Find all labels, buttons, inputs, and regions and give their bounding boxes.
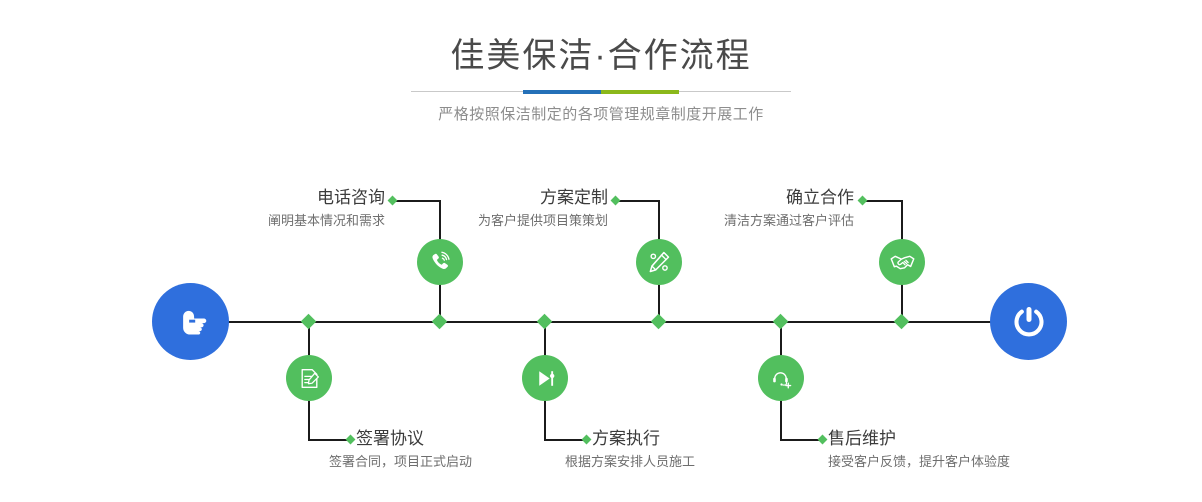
timeline-elbow-h-4 <box>544 439 586 441</box>
step-node-6[interactable] <box>758 355 804 401</box>
process-flow-infographic: 佳美保洁·合作流程 严格按照保洁制定的各项管理规章制度开展工作 <box>0 0 1202 502</box>
power-button-icon <box>1009 302 1049 342</box>
timeline-elbow-v-1 <box>439 200 441 240</box>
step-label-5: 确立合作 清洁方案通过客户评估 <box>596 187 854 231</box>
timeline-elbow-v-3 <box>658 200 660 240</box>
timeline-end-endpoint <box>990 283 1067 360</box>
timeline-start-endpoint <box>152 283 229 360</box>
document-sign-icon <box>297 366 322 391</box>
timeline-elbow-v-2 <box>308 400 310 440</box>
timeline-tip-2 <box>346 435 356 445</box>
timeline-elbow-h-5 <box>862 200 902 202</box>
step-label-6: 售后维护 接受客户反馈，提升客户体验度 <box>828 428 1148 472</box>
pointing-hand-icon <box>170 301 212 343</box>
step-label-3: 方案定制 为客户提供项目策策划 <box>350 187 608 231</box>
step-desc-3: 为客户提供项目策策划 <box>350 211 608 231</box>
step-desc-1: 阐明基本情况和需求 <box>130 211 385 231</box>
pencil-edit-icon <box>646 249 672 275</box>
step-title-5: 确立合作 <box>596 187 854 209</box>
timeline: 电话咨询 阐明基本情况和需求 签署协议 签署合同，项目正式启动 <box>0 0 1202 502</box>
timeline-marker-4 <box>537 314 553 330</box>
step-label-1: 电话咨询 阐明基本情况和需求 <box>130 187 385 231</box>
timeline-elbow-h-2 <box>308 439 350 441</box>
timeline-marker-3 <box>651 314 667 330</box>
step-title-6: 售后维护 <box>828 428 1148 450</box>
timeline-marker-5 <box>894 314 910 330</box>
timeline-elbow-h-6 <box>780 439 822 441</box>
step-desc-5: 清洁方案通过客户评估 <box>596 211 854 231</box>
timeline-tip-5 <box>858 196 868 206</box>
timeline-elbow-v-6 <box>780 400 782 440</box>
timeline-marker-6 <box>773 314 789 330</box>
step-node-2[interactable] <box>286 355 332 401</box>
step-node-4[interactable] <box>522 355 568 401</box>
step-desc-6: 接受客户反馈，提升客户体验度 <box>828 452 1148 472</box>
timeline-elbow-v-4 <box>544 400 546 440</box>
timeline-marker-1 <box>432 314 448 330</box>
timeline-marker-2 <box>301 314 317 330</box>
customer-service-add-icon <box>769 366 794 391</box>
step-node-5[interactable] <box>879 239 925 285</box>
phone-call-icon <box>427 249 453 275</box>
timeline-elbow-v-5 <box>901 200 903 240</box>
step-node-1[interactable] <box>417 239 463 285</box>
step-node-3[interactable] <box>636 239 682 285</box>
step-title-1: 电话咨询 <box>130 187 385 209</box>
timeline-elbow-h-1 <box>392 200 440 202</box>
handshake-icon <box>889 249 916 276</box>
play-execute-icon <box>533 366 558 391</box>
timeline-elbow-h-3 <box>615 200 659 202</box>
